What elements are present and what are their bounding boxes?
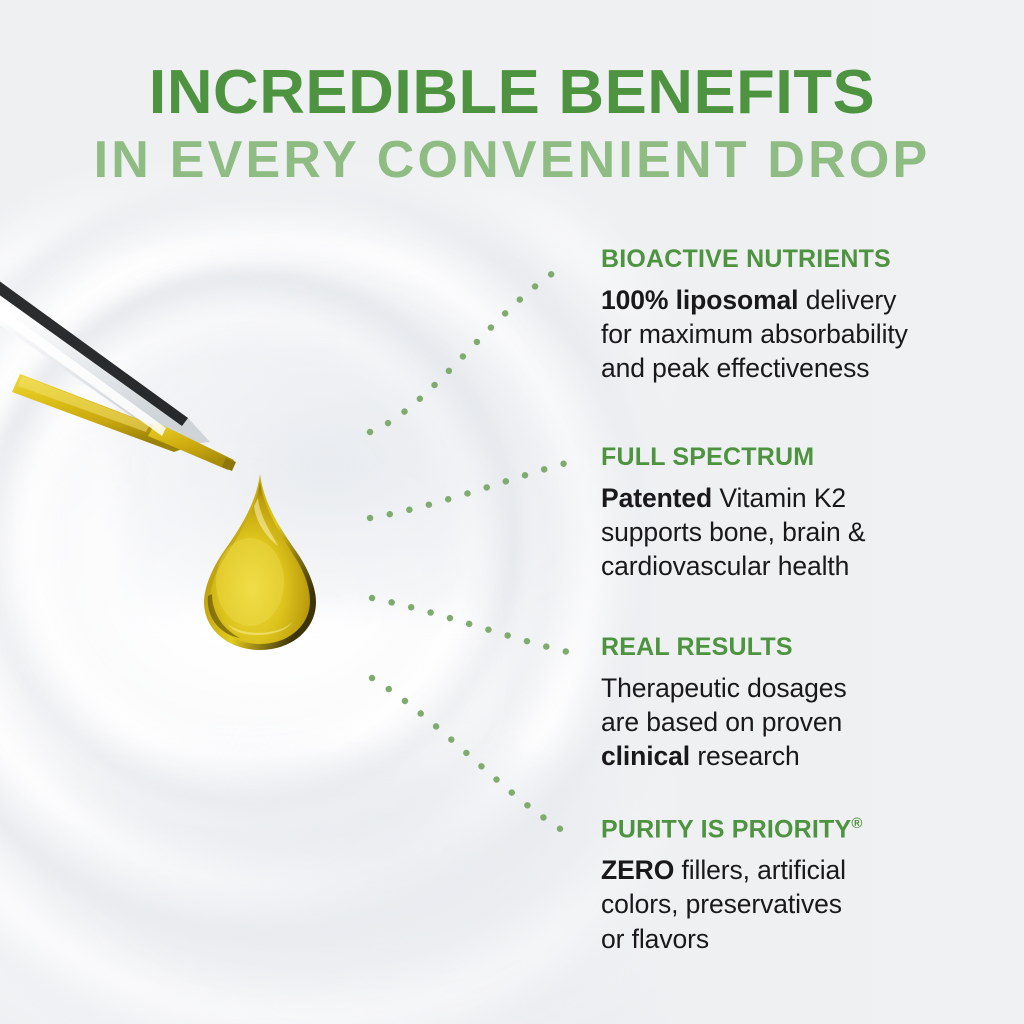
benefit-bold-text: clinical bbox=[601, 741, 690, 771]
benefit-block-full-spectrum: FULL SPECTRUM Patented Vitamin K2 suppor… bbox=[601, 444, 1001, 584]
benefit-regular-text: or flavors bbox=[601, 924, 709, 954]
infographic-canvas: INCREDIBLE BENEFITS IN EVERY CONVENIENT … bbox=[0, 0, 1024, 1024]
benefit-block-bioactive-nutrients: BIOACTIVE NUTRIENTS 100% liposomal deliv… bbox=[601, 246, 1001, 386]
benefit-body-line: cardiovascular health bbox=[601, 549, 1001, 583]
benefit-regular-text: delivery bbox=[798, 285, 896, 315]
benefit-body-line: 100% liposomal delivery bbox=[601, 283, 1001, 317]
benefit-body-line: and peak effectiveness bbox=[601, 351, 1001, 385]
benefit-regular-text: cardiovascular health bbox=[601, 551, 849, 581]
benefit-regular-text: are based on proven bbox=[601, 707, 842, 737]
benefit-body-line: Therapeutic dosages bbox=[601, 671, 1001, 705]
benefit-body: Therapeutic dosages are based on proven … bbox=[601, 671, 1001, 774]
benefit-regular-text: colors, preservatives bbox=[601, 889, 842, 919]
benefit-bold-text: ZERO bbox=[601, 855, 674, 885]
benefit-body: ZERO fillers, artificial colors, preserv… bbox=[601, 853, 1001, 956]
benefit-regular-text: and peak effectiveness bbox=[601, 353, 869, 383]
benefit-regular-text: research bbox=[690, 741, 800, 771]
benefit-body-line: or flavors bbox=[601, 922, 1001, 956]
benefit-body: 100% liposomal delivery for maximum abso… bbox=[601, 283, 1001, 386]
benefit-regular-text: supports bone, brain & bbox=[601, 517, 865, 547]
benefit-body-line: Patented Vitamin K2 bbox=[601, 481, 1001, 515]
benefit-body-line: are based on proven bbox=[601, 705, 1001, 739]
headline-block: INCREDIBLE BENEFITS IN EVERY CONVENIENT … bbox=[0, 62, 1024, 186]
headline-primary: INCREDIBLE BENEFITS bbox=[0, 62, 1024, 124]
benefit-heading: PURITY IS PRIORITY® bbox=[601, 816, 1001, 844]
benefit-bold-text: Patented bbox=[601, 483, 712, 513]
benefit-body-line: colors, preservatives bbox=[601, 887, 1001, 921]
benefit-regular-text: Therapeutic dosages bbox=[601, 673, 847, 703]
benefit-heading: BIOACTIVE NUTRIENTS bbox=[601, 246, 1001, 274]
benefit-body-line: supports bone, brain & bbox=[601, 515, 1001, 549]
benefit-body-line: for maximum absorbability bbox=[601, 317, 1001, 351]
benefit-heading: FULL SPECTRUM bbox=[601, 444, 1001, 472]
benefit-regular-text: fillers, artificial bbox=[674, 855, 846, 885]
benefit-regular-text: Vitamin K2 bbox=[712, 483, 846, 513]
benefit-heading: REAL RESULTS bbox=[601, 634, 1001, 662]
benefit-body-line: clinical research bbox=[601, 739, 1001, 773]
headline-secondary: IN EVERY CONVENIENT DROP bbox=[0, 134, 1024, 186]
benefit-regular-text: for maximum absorbability bbox=[601, 319, 908, 349]
benefit-body-line: ZERO fillers, artificial bbox=[601, 853, 1001, 887]
benefit-bold-text: 100% liposomal bbox=[601, 285, 798, 315]
benefit-block-real-results: REAL RESULTS Therapeutic dosages are bas… bbox=[601, 634, 1001, 774]
benefit-block-purity-is-priority: PURITY IS PRIORITY® ZERO fillers, artifi… bbox=[601, 816, 1001, 956]
benefit-heading-text: PURITY IS PRIORITY bbox=[601, 815, 851, 843]
benefit-body: Patented Vitamin K2 supports bone, brain… bbox=[601, 481, 1001, 584]
registered-trademark-icon: ® bbox=[851, 815, 862, 832]
